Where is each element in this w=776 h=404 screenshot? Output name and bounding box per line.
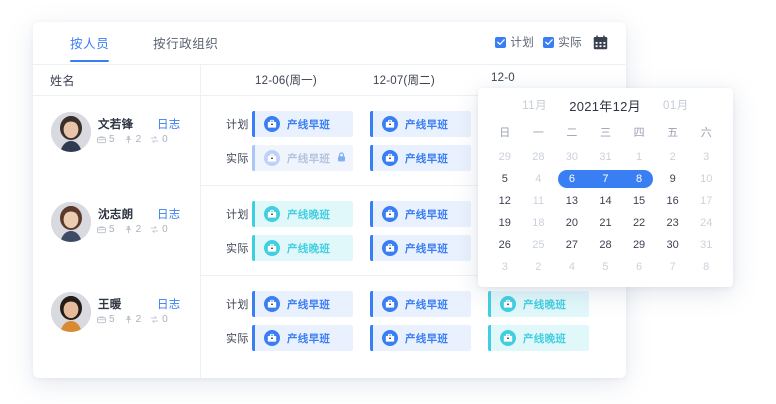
calendar-day[interactable]: 14	[589, 190, 623, 212]
shift-label: 产线早班	[405, 151, 448, 166]
calendar-day-number: 4	[535, 173, 541, 185]
calendar-day-number: 24	[700, 217, 712, 229]
row-label-actual: 实际	[226, 240, 249, 256]
check-icon	[497, 39, 505, 46]
shift-chip[interactable]: 产线早班	[370, 111, 471, 137]
shift-accent-bar	[252, 291, 255, 317]
shift-accent-bar	[252, 235, 255, 261]
stat-briefcase: 5	[97, 134, 115, 145]
shift-accent-bar	[370, 291, 373, 317]
calendar-day[interactable]: 6	[622, 256, 656, 278]
calendar-day[interactable]: 16	[656, 190, 690, 212]
calendar-day-number: 13	[566, 195, 578, 207]
shift-briefcase-icon	[500, 330, 516, 346]
calendar-day-number: 30	[566, 151, 578, 163]
stat-briefcase: 5	[97, 314, 115, 325]
calendar-day[interactable]: 5	[589, 256, 623, 278]
row-label-actual: 实际	[226, 150, 249, 166]
calendar-day[interactable]: 17	[689, 190, 723, 212]
calendar-day-number: 21	[599, 217, 611, 229]
calendar-day-number: 1	[636, 151, 642, 163]
calendar-day-number: 3	[703, 151, 709, 163]
column-header-date-2: 12-0	[491, 72, 515, 84]
calendar-day-grid: 2928303112354678910121113141516171918202…	[488, 146, 723, 278]
shift-chip[interactable]: 产线晚班	[488, 291, 589, 317]
calendar-day[interactable]: 8	[622, 168, 656, 190]
calendar-day[interactable]: 31	[589, 146, 623, 168]
calendar-day[interactable]: 30	[656, 234, 690, 256]
stat-briefcase: 5	[97, 224, 115, 235]
calendar-day[interactable]: 1	[622, 146, 656, 168]
shift-label: 产线晚班	[523, 297, 566, 312]
calendar-day[interactable]: 10	[689, 168, 723, 190]
calendar-day[interactable]: 13	[555, 190, 589, 212]
calendar-day[interactable]: 8	[689, 256, 723, 278]
calendar-day-number: 5	[502, 173, 508, 185]
stat-value: 0	[162, 314, 168, 325]
shift-label: 产线早班	[405, 241, 448, 256]
briefcase-icon	[267, 119, 277, 129]
calendar-day[interactable]: 9	[656, 168, 690, 190]
shift-accent-bar	[370, 235, 373, 261]
display-toggle-group: 计划 实际	[495, 34, 608, 50]
stat-swap: 0	[150, 314, 168, 325]
calendar-day[interactable]: 4	[555, 256, 589, 278]
person-name: 沈志朗	[98, 206, 133, 222]
calendar-day[interactable]: 28	[522, 146, 556, 168]
briefcase-icon	[267, 243, 277, 253]
calendar-day-number: 6	[636, 261, 642, 273]
shift-label: 产线早班	[405, 331, 448, 346]
stat-value: 5	[109, 134, 115, 145]
calendar-day-number: 8	[703, 261, 709, 273]
calendar-weekday: 六	[689, 124, 723, 140]
shift-briefcase-icon	[382, 330, 398, 346]
briefcase-icon	[267, 153, 277, 163]
person-row: 文若锋日志520	[33, 95, 200, 185]
shift-briefcase-icon	[500, 296, 516, 312]
shift-accent-bar	[488, 291, 491, 317]
calendar-day[interactable]: 26	[488, 234, 522, 256]
shift-briefcase-icon	[382, 150, 398, 166]
person-row: 王暖日志520	[33, 275, 200, 365]
calendar-day[interactable]: 7	[589, 168, 623, 190]
row-label-actual: 实际	[226, 330, 249, 346]
calendar-day-number: 6	[569, 173, 575, 185]
checkbox-actual-box[interactable]	[543, 37, 554, 48]
person-row: 沈志朗日志520	[33, 185, 200, 275]
shift-chip[interactable]: 产线早班	[370, 235, 471, 261]
calendar-day[interactable]: 3	[689, 146, 723, 168]
checkbox-actual[interactable]: 实际	[543, 34, 582, 50]
calendar-day[interactable]: 2	[522, 256, 556, 278]
stat-pin: 2	[124, 314, 142, 325]
check-icon	[545, 39, 553, 46]
calendar-day-number: 28	[532, 151, 544, 163]
calendar-day[interactable]: 30	[555, 146, 589, 168]
app-root: 按人员 按行政组织 计划	[0, 0, 776, 404]
shift-label: 产线晚班	[287, 207, 330, 222]
stat-value: 2	[136, 134, 142, 145]
stat-value: 0	[162, 134, 168, 145]
calendar-day-number: 3	[502, 261, 508, 273]
shift-label: 产线晚班	[523, 331, 566, 346]
shift-briefcase-icon	[382, 296, 398, 312]
shift-chip[interactable]: 产线早班	[252, 325, 353, 351]
calendar-day-number: 28	[599, 239, 611, 251]
calendar-day-number: 18	[532, 217, 544, 229]
calendar-day-number: 9	[670, 173, 676, 185]
calendar-day-number: 29	[499, 151, 511, 163]
briefcase-icon	[385, 299, 395, 309]
briefcase-icon	[385, 333, 395, 343]
column-header-date-1: 12-07(周二)	[373, 72, 435, 88]
shift-label: 产线早班	[287, 117, 330, 132]
shift-label: 产线晚班	[287, 241, 330, 256]
calendar-day-number: 16	[667, 195, 679, 207]
shift-chip[interactable]: 产线晚班	[252, 201, 353, 227]
calendar-day-number: 25	[532, 239, 544, 251]
calendar-day[interactable]: 3	[488, 256, 522, 278]
shift-chip[interactable]: 产线早班	[252, 111, 353, 137]
calendar-icon[interactable]	[593, 35, 608, 50]
calendar-day-number: 27	[566, 239, 578, 251]
stat-pin: 2	[124, 134, 142, 145]
briefcase-icon	[267, 333, 277, 343]
row-label-plan: 计划	[226, 296, 249, 312]
stat-value: 0	[162, 224, 168, 235]
calendar-day[interactable]: 22	[622, 212, 656, 234]
calendar-day[interactable]: 6	[555, 168, 589, 190]
shift-accent-bar	[252, 145, 255, 171]
stat-value: 2	[136, 314, 142, 325]
calendar-day-number: 17	[700, 195, 712, 207]
calendar-day-number: 2	[535, 261, 541, 273]
calendar-weekday: 二	[555, 124, 589, 140]
tab-by-organization[interactable]: 按行政组织	[153, 33, 219, 62]
shift-chip[interactable]: 产线早班	[252, 145, 353, 171]
calendar-day[interactable]: 4	[522, 168, 556, 190]
swap-icon	[150, 225, 159, 234]
pin-icon	[124, 225, 133, 234]
calendar-prev-month[interactable]: 11月	[522, 97, 547, 113]
calendar-day-number: 22	[633, 217, 645, 229]
calendar-day[interactable]: 19	[488, 212, 522, 234]
calendar-header: 11月 2021年12月 01月	[478, 88, 733, 122]
avatar[interactable]	[51, 202, 91, 242]
shift-briefcase-icon	[264, 330, 280, 346]
calendar-day-number: 14	[599, 195, 611, 207]
calendar-day-number: 30	[667, 239, 679, 251]
calendar-popup: 11月 2021年12月 01月 日一二三四五六 292830311235467…	[478, 88, 733, 287]
shift-label: 产线早班	[287, 151, 330, 166]
calendar-weekday: 五	[656, 124, 690, 140]
shift-briefcase-icon	[264, 150, 280, 166]
shift-accent-bar	[370, 201, 373, 227]
shift-chip[interactable]: 产线早班	[252, 291, 353, 317]
calendar-day[interactable]: 11	[522, 190, 556, 212]
calendar-day-number: 2	[670, 151, 676, 163]
shift-briefcase-icon	[382, 206, 398, 222]
row-label-plan: 计划	[226, 116, 249, 132]
shift-briefcase-icon	[382, 116, 398, 132]
stat-value: 5	[109, 314, 115, 325]
avatar[interactable]	[51, 292, 91, 332]
calendar-day-number: 7	[602, 173, 608, 185]
shift-label: 产线早班	[405, 117, 448, 132]
column-header-date-0: 12-06(周一)	[255, 72, 317, 88]
shift-briefcase-icon	[382, 240, 398, 256]
avatar-image	[51, 292, 91, 332]
briefcase-icon	[97, 135, 106, 144]
calendar-next-month[interactable]: 01月	[663, 97, 689, 113]
checkbox-actual-label: 实际	[558, 34, 582, 50]
calendar-day[interactable]: 31	[689, 234, 723, 256]
person-log-link[interactable]: 日志	[157, 116, 181, 132]
calendar-day[interactable]: 23	[656, 212, 690, 234]
shift-chip[interactable]: 产线早班	[370, 325, 471, 351]
shift-accent-bar	[370, 325, 373, 351]
avatar[interactable]	[51, 112, 91, 152]
person-log-link[interactable]: 日志	[157, 296, 181, 312]
briefcase-icon	[97, 315, 106, 324]
calendar-day[interactable]: 29	[622, 234, 656, 256]
person-log-link[interactable]: 日志	[157, 206, 181, 222]
shift-label: 产线早班	[405, 297, 448, 312]
calendar-day-number: 8	[636, 173, 642, 185]
briefcase-icon	[503, 333, 513, 343]
person-stats: 520	[97, 134, 168, 145]
calendar-day-number: 19	[499, 217, 511, 229]
calendar-weekday: 三	[589, 124, 623, 140]
swap-icon	[150, 135, 159, 144]
briefcase-icon	[385, 119, 395, 129]
calendar-weekday: 四	[622, 124, 656, 140]
row-label-plan: 计划	[226, 206, 249, 222]
shift-chip[interactable]: 产线晚班	[252, 235, 353, 261]
schedule-row: 计划实际产线早班产线早班产线晚班产线早班产线早班产线晚班	[200, 275, 626, 365]
calendar-weekday: 一	[522, 124, 556, 140]
briefcase-icon	[97, 225, 106, 234]
avatar-image	[51, 112, 91, 152]
pin-icon	[124, 135, 133, 144]
calendar-weekday-header: 日一二三四五六	[488, 124, 723, 140]
lock-icon	[337, 152, 346, 162]
shift-label: 产线早班	[287, 297, 330, 312]
calendar-day-number: 23	[667, 217, 679, 229]
calendar-day[interactable]: 15	[622, 190, 656, 212]
calendar-day-number: 29	[633, 239, 645, 251]
person-name: 王暖	[98, 296, 122, 312]
pin-icon	[124, 315, 133, 324]
stat-swap: 0	[150, 224, 168, 235]
person-stats: 520	[97, 314, 168, 325]
calendar-day-number: 10	[700, 173, 712, 185]
shift-accent-bar	[370, 145, 373, 171]
briefcase-icon	[385, 209, 395, 219]
stat-swap: 0	[150, 134, 168, 145]
avatar-image	[51, 202, 91, 242]
calendar-day[interactable]: 21	[589, 212, 623, 234]
shift-briefcase-icon	[264, 206, 280, 222]
briefcase-icon	[385, 153, 395, 163]
shift-chip[interactable]: 产线晚班	[488, 325, 589, 351]
column-header-name: 姓名	[50, 72, 75, 89]
checkbox-plan-box[interactable]	[495, 37, 506, 48]
calendar-day[interactable]: 25	[522, 234, 556, 256]
shift-chip[interactable]: 产线早班	[370, 145, 471, 171]
calendar-day[interactable]: 7	[656, 256, 690, 278]
tab-by-person[interactable]: 按人员	[70, 33, 109, 62]
calendar-day[interactable]: 28	[589, 234, 623, 256]
briefcase-icon	[267, 299, 277, 309]
shift-chip[interactable]: 产线早班	[370, 291, 471, 317]
calendar-day-number: 12	[499, 195, 511, 207]
swap-icon	[150, 315, 159, 324]
stat-pin: 2	[124, 224, 142, 235]
calendar-day[interactable]: 20	[555, 212, 589, 234]
calendar-day-number: 5	[602, 261, 608, 273]
calendar-day-number: 26	[499, 239, 511, 251]
lock-icon	[337, 149, 346, 167]
shift-accent-bar	[252, 201, 255, 227]
calendar-day-number: 31	[599, 151, 611, 163]
shift-label: 产线早班	[287, 331, 330, 346]
briefcase-icon	[267, 209, 277, 219]
checkbox-plan-label: 计划	[510, 34, 534, 50]
calendar-weekday: 日	[488, 124, 522, 140]
shift-briefcase-icon	[264, 116, 280, 132]
calendar-day-number: 15	[633, 195, 645, 207]
calendar-title: 2021年12月	[569, 96, 641, 115]
shift-label: 产线早班	[405, 207, 448, 222]
calendar-day[interactable]: 27	[555, 234, 589, 256]
briefcase-icon	[385, 243, 395, 253]
shift-accent-bar	[252, 111, 255, 137]
calendar-day-number: 31	[700, 239, 712, 251]
calendar-day[interactable]: 29	[488, 146, 522, 168]
stat-value: 2	[136, 224, 142, 235]
briefcase-icon	[503, 299, 513, 309]
shift-briefcase-icon	[264, 240, 280, 256]
calendar-day-number: 20	[566, 217, 578, 229]
calendar-day-number: 11	[533, 195, 544, 207]
shift-briefcase-icon	[264, 296, 280, 312]
person-name: 文若锋	[98, 116, 133, 132]
calendar-day[interactable]: 12	[488, 190, 522, 212]
checkbox-plan[interactable]: 计划	[495, 34, 534, 50]
calendar-day[interactable]: 24	[689, 212, 723, 234]
calendar-day[interactable]: 18	[522, 212, 556, 234]
calendar-day-number: 4	[569, 261, 575, 273]
shift-accent-bar	[252, 325, 255, 351]
shift-accent-bar	[488, 325, 491, 351]
tab-bar: 按人员 按行政组织 计划	[33, 22, 626, 65]
calendar-day-number: 7	[670, 261, 676, 273]
person-stats: 520	[97, 224, 168, 235]
calendar-day[interactable]: 2	[656, 146, 690, 168]
shift-chip[interactable]: 产线早班	[370, 201, 471, 227]
stat-value: 5	[109, 224, 115, 235]
shift-accent-bar	[370, 111, 373, 137]
calendar-day[interactable]: 5	[488, 168, 522, 190]
